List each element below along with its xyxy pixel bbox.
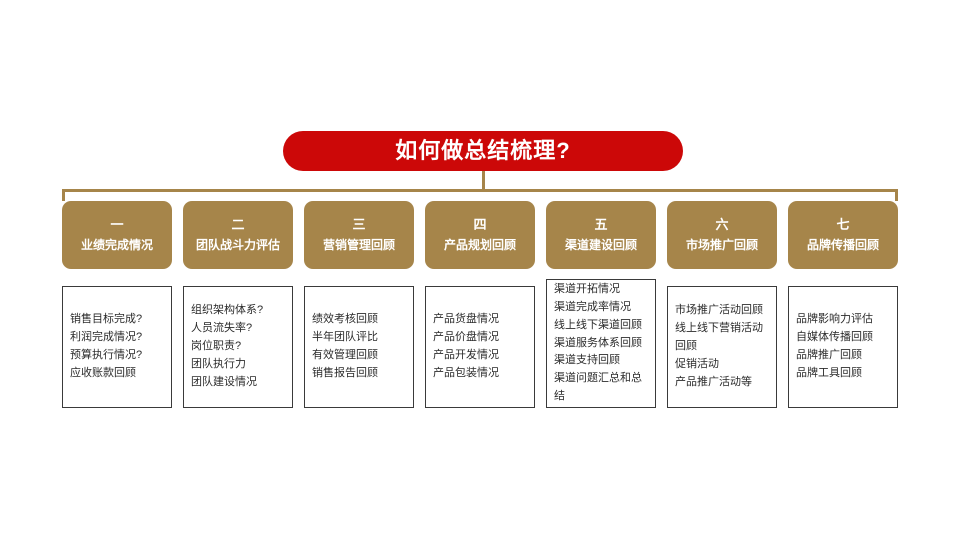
list-item: 渠道问题汇总和总结	[554, 370, 648, 406]
column-4: 四产品规划回顾产品货盘情况产品价盘情况产品开发情况产品包装情况	[425, 201, 535, 411]
column-numeral: 四	[473, 218, 486, 232]
list-item: 渠道开拓情况	[554, 281, 648, 299]
column-header-label: 团队战斗力评估	[196, 239, 280, 252]
column-numeral: 二	[231, 218, 244, 232]
list-item: 利润完成情况?	[70, 329, 164, 347]
list-item: 绩效考核回顾	[312, 311, 406, 329]
slide-canvas: 如何做总结梳理? 一业绩完成情况销售目标完成?利润完成情况?预算执行情况?应收账…	[0, 0, 961, 541]
bracket-bar	[62, 189, 898, 192]
list-item: 产品推广活动等	[675, 374, 769, 392]
column-header-7[interactable]: 七品牌传播回顾	[788, 201, 898, 269]
column-numeral: 七	[836, 218, 849, 232]
column-numeral: 五	[594, 218, 607, 232]
column-7: 七品牌传播回顾品牌影响力评估自媒体传播回顾品牌推广回顾品牌工具回顾	[788, 201, 898, 411]
list-item: 人员流失率?	[191, 320, 285, 338]
bracket-tick-right	[895, 189, 898, 201]
column-body-5: 渠道开拓情况渠道完成率情况线上线下渠道回顾渠道服务体系回顾渠道支持回顾渠道问题汇…	[546, 279, 656, 408]
column-numeral: 一	[110, 218, 123, 232]
column-header-4[interactable]: 四产品规划回顾	[425, 201, 535, 269]
list-item: 品牌推广回顾	[796, 347, 890, 365]
list-item: 团队执行力	[191, 356, 285, 374]
column-header-label: 品牌传播回顾	[807, 239, 879, 252]
column-numeral: 六	[715, 218, 728, 232]
column-2: 二团队战斗力评估组织架构体系?人员流失率?岗位职责?团队执行力团队建设情况	[183, 201, 293, 411]
list-item: 预算执行情况?	[70, 347, 164, 365]
column-body-6: 市场推广活动回顾线上线下营销活动回顾促销活动产品推广活动等	[667, 286, 777, 408]
list-item: 渠道完成率情况	[554, 299, 648, 317]
column-header-label: 业绩完成情况	[81, 239, 153, 252]
column-header-label: 渠道建设回顾	[565, 239, 637, 252]
list-item: 销售报告回顾	[312, 365, 406, 383]
column-3: 三营销管理回顾绩效考核回顾半年团队评比有效管理回顾销售报告回顾	[304, 201, 414, 411]
list-item: 产品价盘情况	[433, 329, 527, 347]
column-5: 五渠道建设回顾渠道开拓情况渠道完成率情况线上线下渠道回顾渠道服务体系回顾渠道支持…	[546, 201, 656, 411]
list-item: 自媒体传播回顾	[796, 329, 890, 347]
column-header-5[interactable]: 五渠道建设回顾	[546, 201, 656, 269]
list-item: 组织架构体系?	[191, 302, 285, 320]
list-item: 产品包装情况	[433, 365, 527, 383]
title-connector-stem	[482, 171, 485, 191]
list-item: 有效管理回顾	[312, 347, 406, 365]
column-body-1: 销售目标完成?利润完成情况?预算执行情况?应收账款回顾	[62, 286, 172, 408]
list-item: 品牌工具回顾	[796, 365, 890, 383]
column-header-label: 营销管理回顾	[323, 239, 395, 252]
list-item: 线上线下营销活动回顾	[675, 320, 769, 356]
column-body-2: 组织架构体系?人员流失率?岗位职责?团队执行力团队建设情况	[183, 286, 293, 408]
list-item: 半年团队评比	[312, 329, 406, 347]
list-item: 渠道服务体系回顾	[554, 335, 648, 353]
bracket-connector	[62, 189, 898, 201]
list-item: 团队建设情况	[191, 374, 285, 392]
column-list: 一业绩完成情况销售目标完成?利润完成情况?预算执行情况?应收账款回顾二团队战斗力…	[62, 201, 898, 411]
list-item: 市场推广活动回顾	[675, 302, 769, 320]
list-item: 促销活动	[675, 356, 769, 374]
list-item: 销售目标完成?	[70, 311, 164, 329]
bracket-tick-left	[62, 189, 65, 201]
column-body-3: 绩效考核回顾半年团队评比有效管理回顾销售报告回顾	[304, 286, 414, 408]
column-numeral: 三	[352, 218, 365, 232]
column-header-3[interactable]: 三营销管理回顾	[304, 201, 414, 269]
list-item: 品牌影响力评估	[796, 311, 890, 329]
list-item: 产品开发情况	[433, 347, 527, 365]
list-item: 产品货盘情况	[433, 311, 527, 329]
page-title: 如何做总结梳理?	[395, 140, 570, 162]
column-header-label: 市场推广回顾	[686, 239, 758, 252]
column-header-label: 产品规划回顾	[444, 239, 516, 252]
column-body-4: 产品货盘情况产品价盘情况产品开发情况产品包装情况	[425, 286, 535, 408]
list-item: 渠道支持回顾	[554, 352, 648, 370]
column-6: 六市场推广回顾市场推广活动回顾线上线下营销活动回顾促销活动产品推广活动等	[667, 201, 777, 411]
column-header-1[interactable]: 一业绩完成情况	[62, 201, 172, 269]
list-item: 岗位职责?	[191, 338, 285, 356]
slide-title-banner: 如何做总结梳理?	[283, 131, 683, 171]
column-header-2[interactable]: 二团队战斗力评估	[183, 201, 293, 269]
column-header-6[interactable]: 六市场推广回顾	[667, 201, 777, 269]
column-1: 一业绩完成情况销售目标完成?利润完成情况?预算执行情况?应收账款回顾	[62, 201, 172, 411]
column-body-7: 品牌影响力评估自媒体传播回顾品牌推广回顾品牌工具回顾	[788, 286, 898, 408]
list-item: 线上线下渠道回顾	[554, 317, 648, 335]
list-item: 应收账款回顾	[70, 365, 164, 383]
